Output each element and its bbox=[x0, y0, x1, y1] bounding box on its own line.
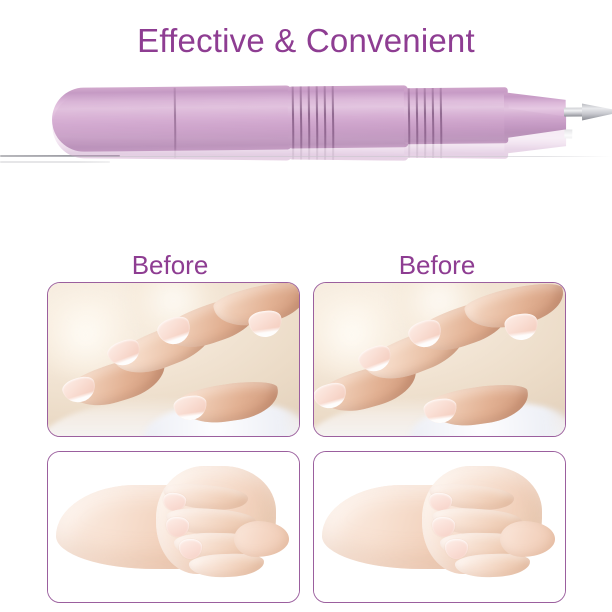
drill-bit-point bbox=[582, 103, 612, 120]
photo-panel-top-right bbox=[313, 282, 566, 437]
grip-groove bbox=[332, 86, 335, 148]
grip-groove bbox=[416, 88, 419, 144]
reflection-floor-line bbox=[0, 156, 612, 157]
product-marketing-image: Effective & Convenient bbox=[0, 0, 612, 612]
grip-groove bbox=[432, 88, 435, 144]
photo-panel-top-left bbox=[47, 282, 300, 437]
before-label-left: Before bbox=[105, 249, 235, 281]
grip-groove bbox=[440, 88, 443, 144]
photo-panel-bottom-left bbox=[47, 451, 300, 603]
relaxed-fist-photo bbox=[48, 452, 299, 602]
grip-groove bbox=[424, 88, 427, 144]
french-manicure-photo bbox=[48, 283, 299, 436]
pen-mid-barrel bbox=[288, 85, 409, 148]
fingernail bbox=[178, 539, 201, 559]
pen-nose-cone bbox=[504, 92, 566, 139]
power-cord-reflection bbox=[0, 161, 110, 163]
grip-groove bbox=[324, 86, 327, 148]
drill-bit-point-reflection bbox=[582, 126, 612, 143]
french-manicure-photo bbox=[314, 283, 565, 436]
photo-panel-bottom-right bbox=[313, 451, 566, 603]
fingernail bbox=[444, 539, 467, 559]
page-title: Effective & Convenient bbox=[0, 19, 612, 63]
nail-drill-pen bbox=[52, 75, 573, 158]
fingernail bbox=[172, 394, 208, 423]
pen-rear-barrel bbox=[52, 85, 293, 152]
fingernail bbox=[431, 516, 455, 537]
relaxed-fist-photo bbox=[314, 452, 565, 602]
grip-groove bbox=[316, 86, 319, 148]
pen-fore-barrel bbox=[404, 87, 509, 144]
panel-label-row: Before Before bbox=[0, 249, 612, 281]
grip-groove bbox=[300, 86, 303, 148]
grip-groove bbox=[308, 86, 311, 148]
drill-bit-shank bbox=[564, 107, 584, 116]
product-hero bbox=[0, 72, 612, 237]
grip-groove bbox=[292, 86, 295, 148]
fingernail bbox=[165, 516, 189, 537]
before-label-right: Before bbox=[372, 249, 502, 281]
grip-groove bbox=[408, 88, 411, 144]
